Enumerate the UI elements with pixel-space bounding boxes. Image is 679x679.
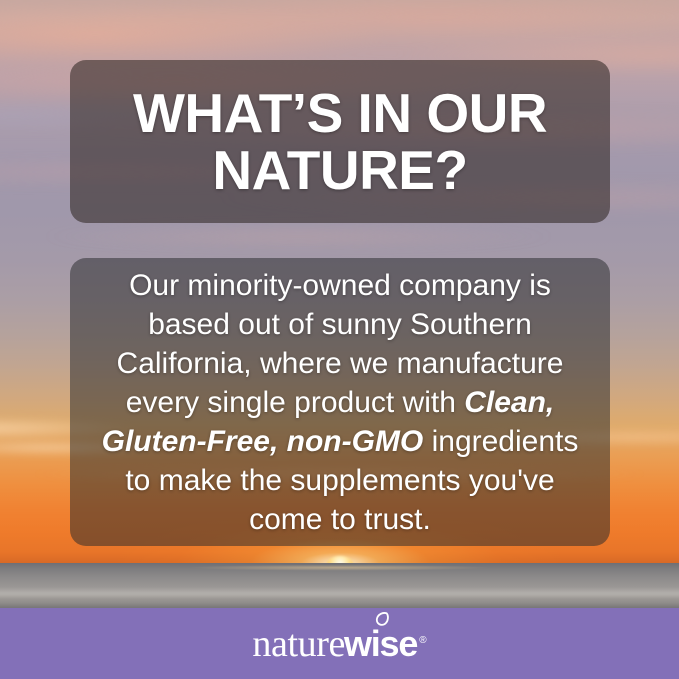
registered-mark: ®	[419, 636, 426, 646]
naturewise-logo: naturewise®	[252, 625, 426, 663]
logo-word-wise: wise	[344, 626, 417, 662]
title-line-2: NATURE?	[212, 139, 467, 201]
logo-word-nature: nature	[252, 625, 345, 663]
title-line-1: WHAT’S IN OUR	[133, 82, 547, 144]
page-title: WHAT’S IN OURNATURE?	[115, 85, 565, 197]
promo-graphic: WHAT’S IN OURNATURE? Our minority-owned …	[0, 0, 679, 679]
leaf-icon	[375, 612, 389, 628]
body-copy: Our minority-owned company is based out …	[70, 266, 610, 539]
brand-bar: naturewise®	[0, 608, 679, 679]
title-card: WHAT’S IN OURNATURE?	[70, 60, 610, 223]
body-card: Our minority-owned company is based out …	[70, 258, 610, 546]
